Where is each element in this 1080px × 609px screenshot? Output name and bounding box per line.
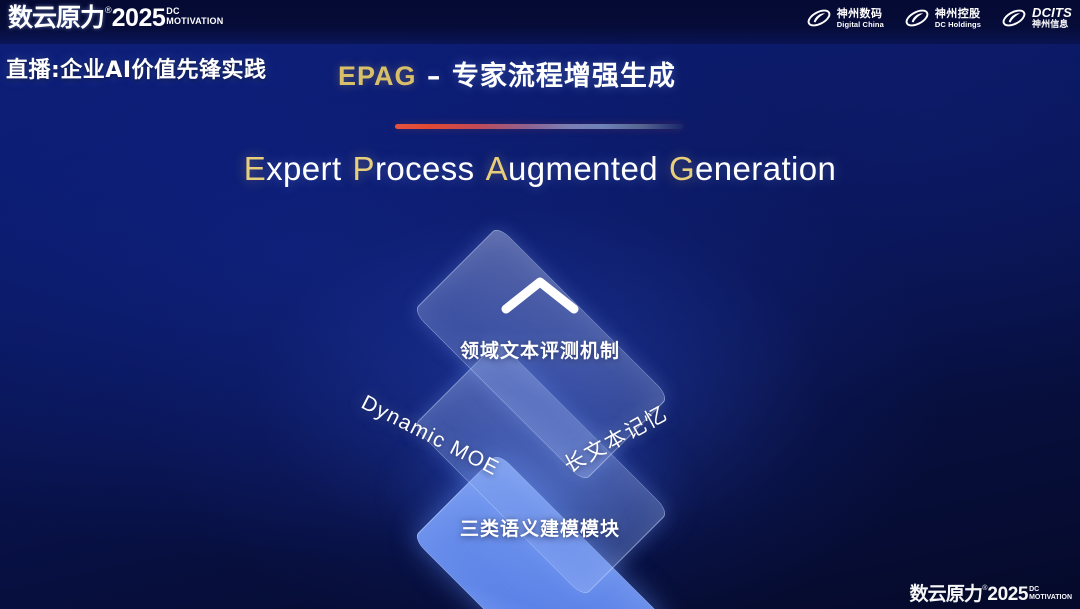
brand-logo-year: 2025 [112,4,166,32]
swirl-icon [806,5,832,31]
subtitle-rest-generation: eneration [695,150,836,187]
partner-logo-dcits: DCITS 神州信息 [1001,5,1072,31]
layered-architecture-diagram: 领域文本评测机制 Dynamic MOE 长文本记忆 三类语义建模模块 [300,228,780,588]
brand-logo-motivation: MOTIVATION [166,16,223,26]
subtitle-rest-expert: xpert [266,150,341,187]
page-title-chinese: – 专家流程增强生成 [427,61,676,92]
watermark-motivation: MOTIVATION [1029,594,1072,602]
brand-logo: 数云原力 ® 2025 DC MOTIVATION [8,4,223,32]
brand-logo-cn: 数云原力 [8,4,104,32]
partner-label: DCITS 神州信息 [1032,6,1072,31]
brand-logo-dc-motivation: DC MOTIVATION [166,6,223,26]
partner-name-cn: DCITS [1032,6,1072,19]
brand-logo-registered-mark: ® [105,4,112,16]
slide-canvas: 数云原力 ® 2025 DC MOTIVATION 直播:企业AI价值先锋实践 … [0,0,1080,609]
partner-name-en: 神州信息 [1032,21,1072,30]
title-divider [395,124,683,129]
subtitle-initial-g: G [669,150,695,187]
partner-label: 神州控股 DC Holdings [935,8,981,29]
brand-logo-dc: DC [166,6,223,16]
partner-logo-digital-china: 神州数码 Digital China [806,5,884,31]
partner-name-cn: 神州控股 [935,8,981,19]
watermark-year: 2025 [987,584,1028,605]
partner-name-en: Digital China [837,21,884,29]
subtitle-initial-e: E [244,150,266,187]
watermark-dc-motivation: DC MOTIVATION [1029,586,1072,602]
partner-logo-group: 神州数码 Digital China 神州控股 DC Holdings [806,5,1072,31]
subtitle-expansion: ExpertProcessAugmentedGeneration [0,150,1080,188]
page-title-acronym: EPAG [338,61,417,91]
subtitle-rest-augmented: ugmented [508,150,658,187]
subtitle-initial-a: A [486,150,508,187]
watermark-cn: 数云原力 [909,584,982,605]
partner-logo-dc-holdings: 神州控股 DC Holdings [904,5,981,31]
page-title: EPAG – 专家流程增强生成 [338,54,676,93]
swirl-icon [1001,5,1027,31]
live-stream-label: 直播:企业AI价值先锋实践 [6,52,267,84]
subtitle-initial-p: P [353,150,375,187]
partner-name-cn: 神州数码 [837,8,884,19]
swirl-icon [904,5,930,31]
partner-label: 神州数码 Digital China [837,8,884,29]
subtitle-rest-process: rocess [375,150,475,187]
partner-name-en: DC Holdings [935,21,981,29]
watermark-dc: DC [1029,586,1072,594]
corner-watermark: 数云原力 ® 2025 DC MOTIVATION [909,584,1072,605]
